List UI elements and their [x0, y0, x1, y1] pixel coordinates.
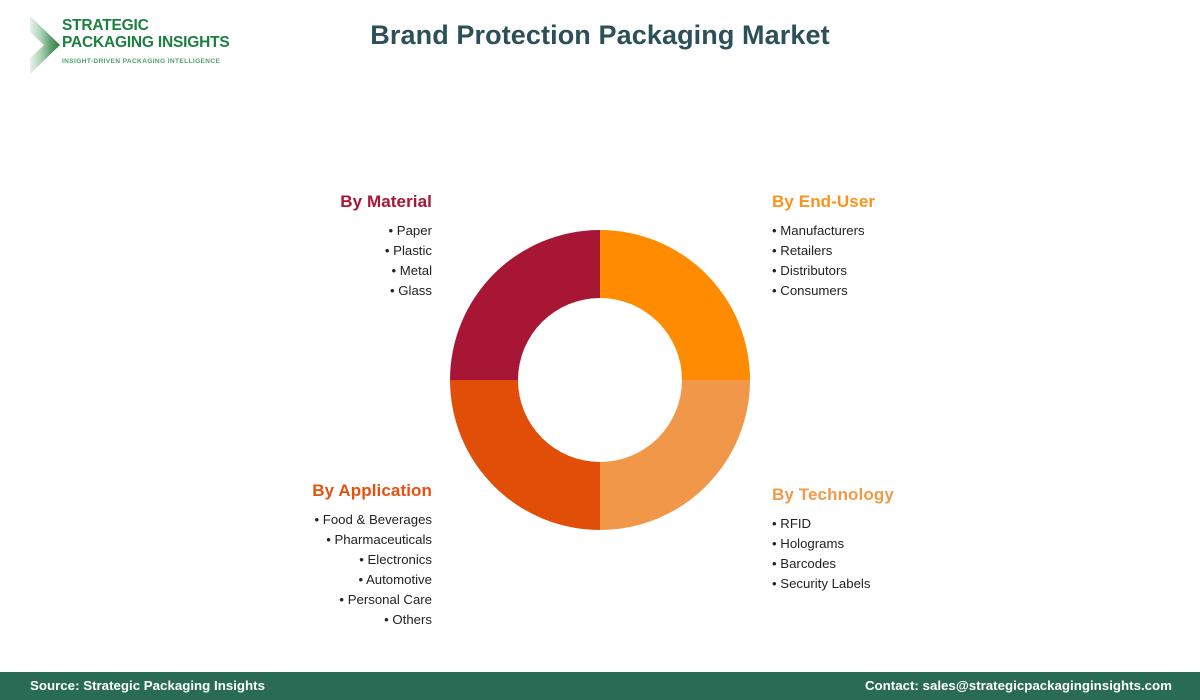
- bullet-icon: •: [358, 572, 363, 587]
- list-item: • RFID: [772, 514, 1032, 534]
- segment-group-application: By Application • Food & Beverages • Phar…: [178, 481, 432, 630]
- list-item-label: RFID: [780, 516, 811, 531]
- list-item-label: Plastic: [393, 243, 432, 258]
- list-item-label: Electronics: [368, 552, 433, 567]
- bullet-icon: •: [314, 512, 319, 527]
- infographic-canvas: STRATEGIC PACKAGING INSIGHTS INSIGHT-DRI…: [0, 0, 1200, 700]
- bullet-icon: •: [385, 243, 390, 258]
- list-item: • Holograms: [772, 534, 1032, 554]
- list-item-label: Pharmaceuticals: [335, 532, 432, 547]
- bullet-icon: •: [359, 552, 364, 567]
- list-item-label: Barcodes: [780, 556, 836, 571]
- list-item-label: Metal: [400, 263, 432, 278]
- list-item-label: Food & Beverages: [323, 512, 432, 527]
- footer-contact-email[interactable]: Contact: sales@strategicpackaginginsight…: [865, 672, 1172, 700]
- list-item: • Barcodes: [772, 554, 1032, 574]
- list-item-label: Distributors: [780, 263, 847, 278]
- segment-list-material: • Paper • Plastic • Metal • Glass: [200, 221, 432, 301]
- segment-group-technology: By Technology • RFID • Holograms • Barco…: [772, 485, 1032, 594]
- bullet-icon: •: [384, 612, 389, 627]
- segment-list-end-user: • Manufacturers • Retailers • Distributo…: [772, 221, 1032, 301]
- list-item-label: Holograms: [780, 536, 844, 551]
- bullet-icon: •: [390, 283, 395, 298]
- bullet-icon: •: [339, 592, 344, 607]
- list-item: • Security Labels: [772, 574, 1032, 594]
- list-item-label: Personal Care: [348, 592, 432, 607]
- donut-center-hole: [518, 298, 682, 462]
- list-item: • Distributors: [772, 261, 1032, 281]
- donut-chart: [450, 230, 750, 530]
- list-item: • Retailers: [772, 241, 1032, 261]
- list-item: • Glass: [200, 281, 432, 301]
- list-item: • Others: [178, 610, 432, 630]
- list-item: • Consumers: [772, 281, 1032, 301]
- page-title: Brand Protection Packaging Market: [0, 20, 1200, 51]
- footer-source-text: Source: Strategic Packaging Insights: [30, 672, 265, 700]
- list-item-label: Automotive: [366, 572, 432, 587]
- list-item: • Paper: [200, 221, 432, 241]
- bullet-icon: •: [391, 263, 396, 278]
- footer-bar: Source: Strategic Packaging Insights Con…: [0, 672, 1200, 700]
- segment-title-technology: By Technology: [772, 485, 1032, 505]
- segment-group-material: By Material • Paper • Plastic • Metal • …: [200, 192, 432, 301]
- list-item: • Electronics: [178, 550, 432, 570]
- list-item-label: Consumers: [780, 283, 847, 298]
- list-item: • Food & Beverages: [178, 510, 432, 530]
- list-item-label: Paper: [397, 223, 432, 238]
- list-item: • Manufacturers: [772, 221, 1032, 241]
- bullet-icon: •: [772, 556, 777, 571]
- bullet-icon: •: [772, 576, 777, 591]
- segment-title-application: By Application: [178, 481, 432, 501]
- segment-group-end-user: By End-User • Manufacturers • Retailers …: [772, 192, 1032, 301]
- segment-title-end-user: By End-User: [772, 192, 1032, 212]
- bullet-icon: •: [772, 516, 777, 531]
- list-item-label: Glass: [398, 283, 432, 298]
- list-item: • Metal: [200, 261, 432, 281]
- list-item: • Automotive: [178, 570, 432, 590]
- list-item-label: Others: [392, 612, 432, 627]
- list-item-label: Manufacturers: [780, 223, 864, 238]
- list-item-label: Security Labels: [780, 576, 870, 591]
- bullet-icon: •: [772, 243, 777, 258]
- logo-tagline: INSIGHT-DRIVEN PACKAGING INTELLIGENCE: [62, 58, 252, 65]
- list-item: • Plastic: [200, 241, 432, 261]
- donut-chart-svg: [450, 230, 750, 530]
- bullet-icon: •: [772, 283, 777, 298]
- list-item: • Personal Care: [178, 590, 432, 610]
- list-item: • Pharmaceuticals: [178, 530, 432, 550]
- segment-list-application: • Food & Beverages • Pharmaceuticals • E…: [178, 510, 432, 630]
- bullet-icon: •: [772, 263, 777, 278]
- segment-list-technology: • RFID • Holograms • Barcodes • Security…: [772, 514, 1032, 594]
- bullet-icon: •: [772, 223, 777, 238]
- bullet-icon: •: [389, 223, 394, 238]
- bullet-icon: •: [772, 536, 777, 551]
- segment-title-material: By Material: [200, 192, 432, 212]
- bullet-icon: •: [326, 532, 331, 547]
- list-item-label: Retailers: [780, 243, 832, 258]
